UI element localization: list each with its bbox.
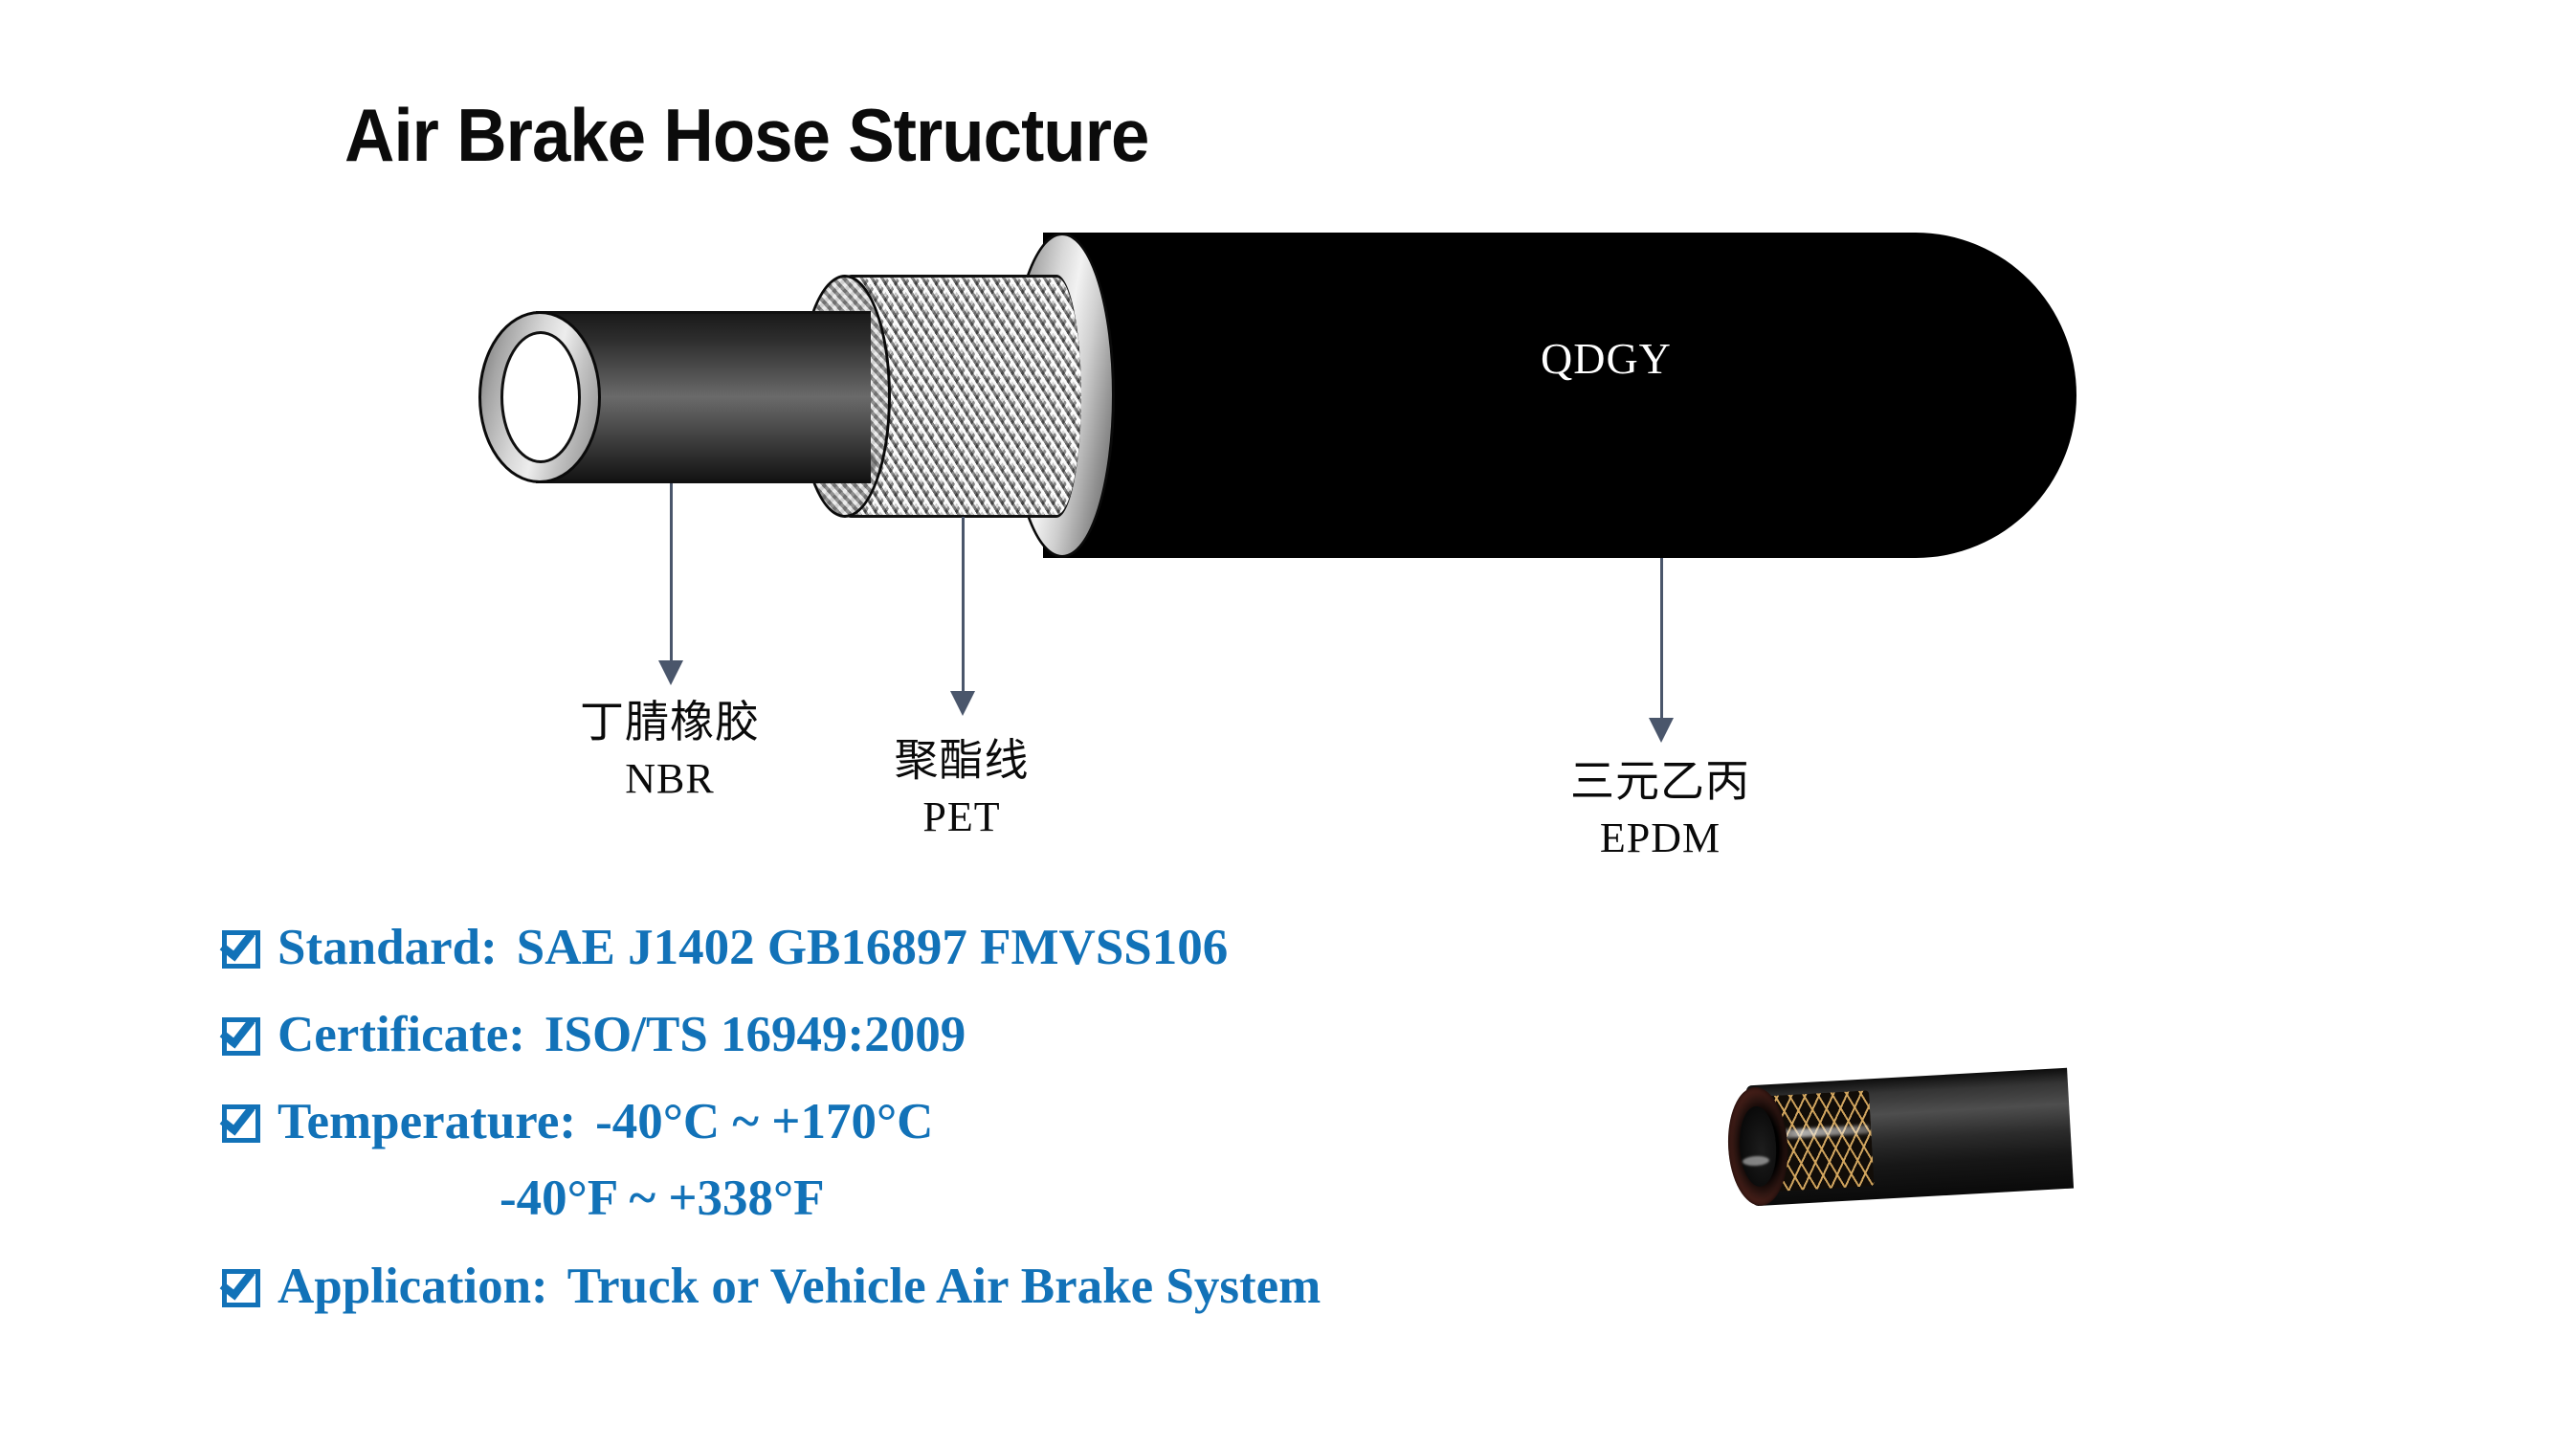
spec-row-certificate: Certificate: ISO/TS 16949:2009 [222, 1008, 1321, 1062]
epdm-outer-cover-layer [1043, 233, 2076, 558]
leader-line-pet [962, 517, 965, 694]
callout-epdm-cn: 三元乙丙 [1550, 756, 1770, 807]
spec-label-standard: Standard: [278, 921, 498, 975]
spec-value-application: Truck or Vehicle Air Brake System [567, 1260, 1321, 1314]
spec-value-temperature-fahrenheit: -40°F ~ +338°F [500, 1170, 1321, 1227]
callout-epdm: 三元乙丙 EPDM [1550, 756, 1770, 870]
leader-arrow-pet [950, 691, 975, 716]
checkbox-checked-icon [222, 1017, 260, 1056]
checkbox-checked-icon [222, 1269, 260, 1307]
spec-row-application: Application: Truck or Vehicle Air Brake … [222, 1260, 1321, 1314]
slide-canvas: Air Brake Hose Structure QDGY 丁腈橡胶 NBR 聚… [0, 0, 2576, 1449]
callout-pet-en: PET [852, 786, 1072, 849]
spec-label-application: Application: [278, 1260, 548, 1314]
spec-value-temperature: -40°C ~ +170°C [595, 1095, 933, 1149]
spec-value-certificate: ISO/TS 16949:2009 [544, 1008, 966, 1062]
callout-pet-cn: 聚酯线 [852, 735, 1072, 786]
leader-line-epdm [1660, 558, 1663, 721]
leader-arrow-nbr [658, 660, 683, 685]
callout-nbr-en: NBR [545, 747, 794, 811]
product-photo [1711, 1051, 2076, 1232]
leader-arrow-epdm [1649, 718, 1674, 743]
spec-label-certificate: Certificate: [278, 1008, 525, 1062]
callout-epdm-en: EPDM [1550, 807, 1770, 870]
spec-row-temperature: Temperature: -40°C ~ +170°C [222, 1095, 1321, 1149]
checkbox-checked-icon [222, 930, 260, 969]
nbr-bore-opening [500, 331, 581, 463]
leader-line-nbr [670, 483, 673, 663]
callout-nbr-cn: 丁腈橡胶 [545, 697, 794, 747]
hose-structure-illustration: QDGY [0, 0, 2576, 957]
callout-nbr: 丁腈橡胶 NBR [545, 697, 794, 811]
spec-label-temperature: Temperature: [278, 1095, 576, 1149]
specification-list: Standard: SAE J1402 GB16897 FMVSS106 Cer… [222, 921, 1321, 1347]
spec-value-standard: SAE J1402 GB16897 FMVSS106 [517, 921, 1229, 975]
checkbox-checked-icon [222, 1104, 260, 1143]
brand-mark-label: QDGY [1541, 333, 1672, 384]
spec-row-standard: Standard: SAE J1402 GB16897 FMVSS106 [222, 921, 1321, 975]
callout-pet: 聚酯线 PET [852, 735, 1072, 849]
